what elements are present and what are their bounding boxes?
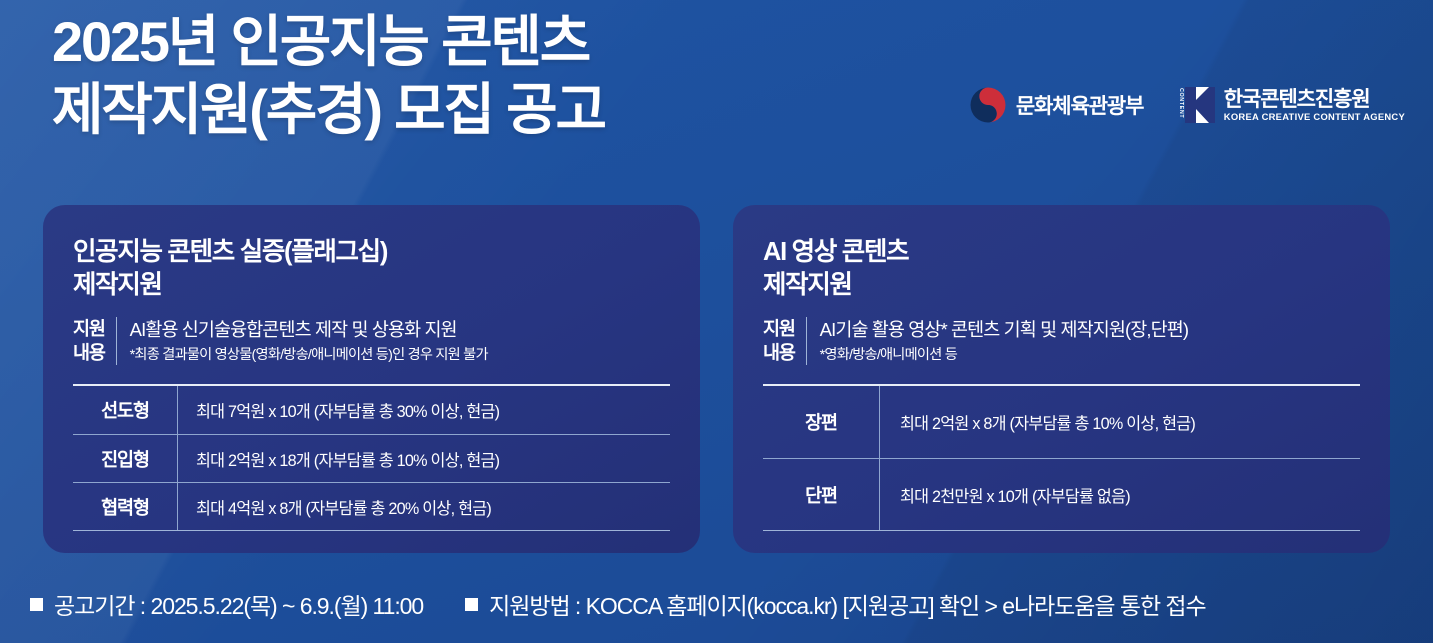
logo-mcst: 문화체육관광부 [969,86,1144,124]
taegeuk-icon [969,86,1007,124]
table-row-key: 장편 [763,409,879,435]
table-row-value: 최대 7억원 x 10개 (자부담률 총 30% 이상, 현금) [177,386,499,434]
support-content-block: 지원 내용 AI활용 신기술융합콘텐츠 제작 및 상용화 지원 *최종 결과물이… [73,317,670,365]
logo-mcst-label: 문화체육관광부 [1016,90,1144,120]
logo-kocca: CONTENT 한국콘텐츠진흥원 KOREA CREATIVE CONTENT … [1177,87,1405,123]
table-row: 협력형 최대 4억원 x 8개 (자부담률 총 20% 이상, 현금) [73,482,670,530]
table-row: 선도형 최대 7억원 x 10개 (자부담률 총 30% 이상, 현금) [73,386,670,434]
poster-header: 2025년 인공지능 콘텐츠 제작지원(추경) 모집 공고 문화체육관광부 CO… [0,0,1433,190]
table-row-value: 최대 2천만원 x 10개 (자부담률 없음) [879,459,1130,530]
table-row-value: 최대 4억원 x 8개 (자부담률 총 20% 이상, 현금) [177,483,491,530]
poster-footer: 공고기간 : 2025.5.22(목) ~ 6.9.(월) 11:00 지원방법… [0,565,1433,643]
footer-item-howto: 지원방법 : KOCCA 홈페이지(kocca.kr) [지원공고] 확인 > … [465,587,1205,621]
square-bullet-icon [30,598,43,611]
program-card-ai-video: AI 영상 콘텐츠 제작지원 지원 내용 AI기술 활용 영상* 콘텐츠 기획 … [733,205,1390,553]
table-row-key: 단편 [763,482,879,508]
support-content-main: AI활용 신기술융합콘텐츠 제작 및 상용화 지원 [130,318,488,342]
card-title: 인공지능 콘텐츠 실증(플래그십) 제작지원 [73,236,670,302]
kocca-mark: CONTENT [1177,87,1214,123]
support-content-main: AI기술 활용 영상* 콘텐츠 기획 및 제작지원(장,단편) [820,318,1188,342]
support-content-note: *영화/방송/애니메이션 등 [820,346,1188,365]
kocca-label-ko: 한국콘텐츠진흥원 [1224,89,1405,111]
funding-table: 선도형 최대 7억원 x 10개 (자부담률 총 30% 이상, 현금) 진입형… [73,384,670,531]
table-row-key: 선도형 [73,397,177,423]
support-content-block: 지원 내용 AI기술 활용 영상* 콘텐츠 기획 및 제작지원(장,단편) *영… [763,317,1360,365]
table-row-value: 최대 2억원 x 8개 (자부담률 총 10% 이상, 현금) [879,386,1195,458]
logo-group: 문화체육관광부 CONTENT 한국콘텐츠진흥원 KOREA CREATIVE … [969,86,1405,124]
table-row-key: 협력형 [73,494,177,520]
page-title: 2025년 인공지능 콘텐츠 제작지원(추경) 모집 공고 [52,8,605,144]
table-row: 장편 최대 2억원 x 8개 (자부담률 총 10% 이상, 현금) [763,386,1360,458]
kocca-wordmark: 한국콘텐츠진흥원 KOREA CREATIVE CONTENT AGENCY [1224,89,1405,121]
support-content-body: AI기술 활용 영상* 콘텐츠 기획 및 제작지원(장,단편) *영화/방송/애… [806,317,1188,365]
support-content-note: *최종 결과물이 영상물(영화/방송/애니메이션 등)인 경우 지원 불가 [130,346,488,365]
footer-howto-text: 지원방법 : KOCCA 홈페이지(kocca.kr) [지원공고] 확인 > … [489,587,1205,621]
table-row-key: 진입형 [73,446,177,472]
table-row: 진입형 최대 2억원 x 18개 (자부담률 총 10% 이상, 현금) [73,434,670,482]
support-content-label: 지원 내용 [763,317,806,365]
program-cards: 인공지능 콘텐츠 실증(플래그십) 제작지원 지원 내용 AI활용 신기술융합콘… [43,205,1390,553]
kocca-label-en: KOREA CREATIVE CONTENT AGENCY [1224,112,1405,121]
table-row-value: 최대 2억원 x 18개 (자부담률 총 10% 이상, 현금) [177,435,499,482]
kocca-k-icon [1185,87,1215,123]
program-card-flagship: 인공지능 콘텐츠 실증(플래그십) 제작지원 지원 내용 AI활용 신기술융합콘… [43,205,700,553]
footer-item-period: 공고기간 : 2025.5.22(목) ~ 6.9.(월) 11:00 [30,587,423,621]
kocca-mark-vertical-label: CONTENT [1177,88,1182,122]
poster-root: 2025년 인공지능 콘텐츠 제작지원(추경) 모집 공고 문화체육관광부 CO… [0,0,1433,643]
funding-table: 장편 최대 2억원 x 8개 (자부담률 총 10% 이상, 현금) 단편 최대… [763,384,1360,531]
square-bullet-icon [465,598,478,611]
support-content-body: AI활용 신기술융합콘텐츠 제작 및 상용화 지원 *최종 결과물이 영상물(영… [116,317,488,365]
footer-period-text: 공고기간 : 2025.5.22(목) ~ 6.9.(월) 11:00 [54,587,423,621]
table-row: 단편 최대 2천만원 x 10개 (자부담률 없음) [763,458,1360,530]
card-title: AI 영상 콘텐츠 제작지원 [763,236,1360,302]
support-content-label: 지원 내용 [73,317,116,365]
